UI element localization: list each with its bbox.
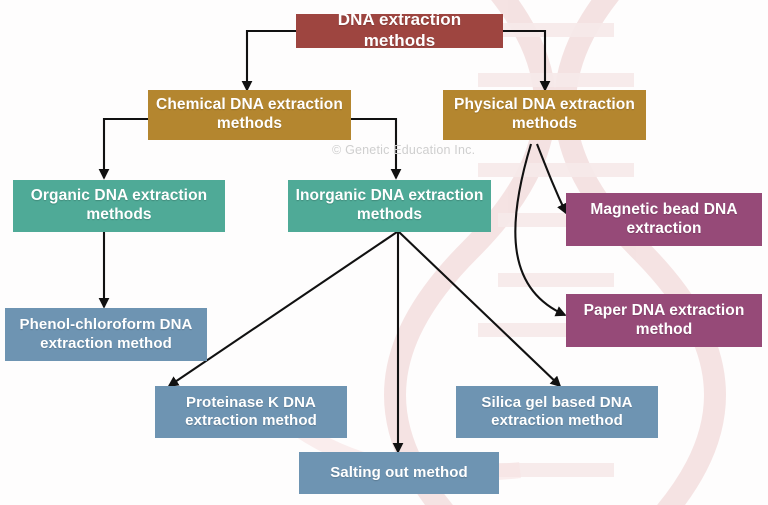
node-organic-dna-extraction-methods[interactable]: Organic DNA extraction methods (13, 180, 225, 232)
node-dna-extraction-methods[interactable]: DNA extraction methods (296, 14, 503, 48)
node-physical-dna-extraction-methods[interactable]: Physical DNA extraction methods (443, 90, 646, 140)
edge-root-physical (503, 31, 545, 90)
node-label: Phenol-chloroform DNA extraction method (11, 316, 201, 353)
node-phenol-chloroform-dna-extraction-method[interactable]: Phenol-chloroform DNA extraction method (5, 308, 207, 361)
node-inorganic-dna-extraction-methods[interactable]: Inorganic DNA extraction methods (288, 180, 491, 232)
edge-chemical-organic (104, 119, 148, 178)
edge-chemical-inorganic (351, 119, 396, 178)
edge-physical-paper (515, 144, 565, 315)
node-label: Chemical DNA extraction methods (154, 96, 345, 134)
node-label: Paper DNA extraction method (572, 302, 756, 340)
edge-inorganic-silica (399, 232, 560, 386)
node-magnetic-bead-dna-extraction[interactable]: Magnetic bead DNA extraction (566, 193, 762, 246)
node-label: Silica gel based DNA extraction method (462, 394, 652, 431)
flowchart-canvas: DNA extraction methods Chemical DNA extr… (0, 0, 768, 505)
node-silica-gel-based-dna-extraction-method[interactable]: Silica gel based DNA extraction method (456, 386, 658, 438)
node-label: Magnetic bead DNA extraction (572, 201, 756, 239)
node-salting-out-method[interactable]: Salting out method (299, 452, 499, 494)
node-label: DNA extraction methods (302, 10, 497, 51)
node-proteinase-k-dna-extraction-method[interactable]: Proteinase K DNA extraction method (155, 386, 347, 438)
node-label: Proteinase K DNA extraction method (161, 394, 341, 431)
edge-physical-magnetic (537, 144, 566, 213)
edge-root-chemical (247, 31, 296, 90)
node-label: Salting out method (305, 464, 493, 482)
node-chemical-dna-extraction-methods[interactable]: Chemical DNA extraction methods (148, 90, 351, 140)
node-label: Physical DNA extraction methods (449, 96, 640, 134)
node-label: Organic DNA extraction methods (19, 187, 219, 225)
copyright-watermark: © Genetic Education Inc. (332, 143, 475, 157)
node-paper-dna-extraction-method[interactable]: Paper DNA extraction method (566, 294, 762, 347)
node-label: Inorganic DNA extraction methods (294, 187, 485, 225)
